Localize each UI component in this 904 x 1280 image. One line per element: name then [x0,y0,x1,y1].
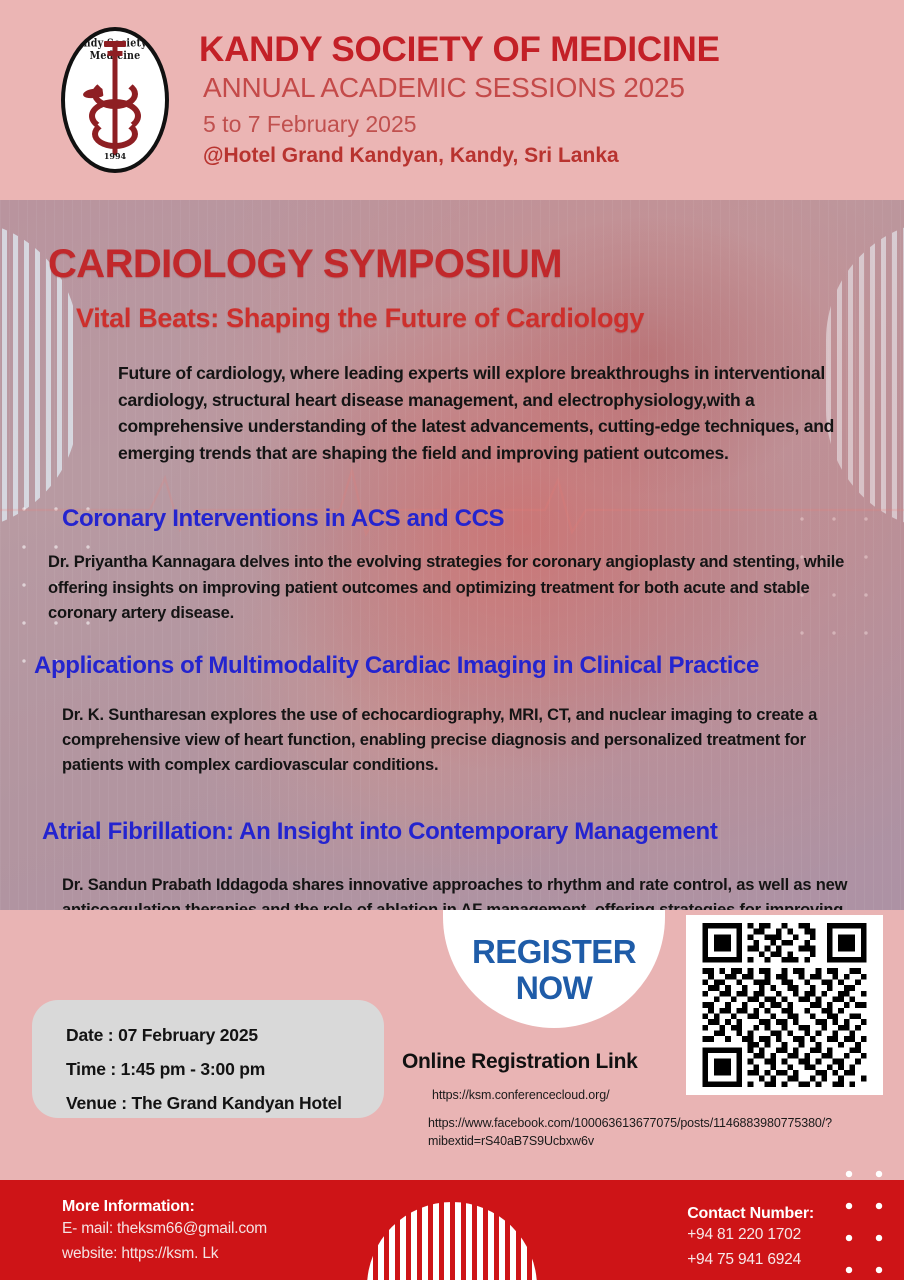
registration-qr-code[interactable] [686,915,883,1095]
session-item: Coronary Interventions in ACS and CCS Dr… [18,504,886,626]
session-item: Atrial Fibrillation: An Insight into Con… [18,817,886,910]
session-2-title: Applications of Multimodality Cardiac Im… [34,651,886,681]
striped-dome-decoration [367,1202,537,1280]
session-3-title: Atrial Fibrillation: An Insight into Con… [42,817,886,847]
more-information-block: More Information: E- mail: theksm66@gmai… [62,1198,267,1266]
qr-code-icon [694,923,875,1087]
register-now-button[interactable]: REGISTER NOW [443,910,665,1028]
contact-number-block: Contact Number: +94 81 220 1702 +94 75 9… [687,1205,814,1273]
symposium-title: CARDIOLOGY SYMPOSIUM [48,242,886,287]
event-time: Time : 1:45 pm - 3:00 pm [66,1052,384,1086]
header-text-block: KANDY SOCIETY OF MEDICINE ANNUAL ACADEMI… [199,28,904,171]
logo-wrap: Kandy Society of Medicine 1994 [55,25,175,175]
symposium-intro: Future of cardiology, where leading expe… [118,360,844,466]
session-3-body: Dr. Sandun Prabath Iddagoda shares innov… [62,873,864,910]
poster-root: Kandy Society of Medicine 1994 KANDY SOC… [0,0,904,1280]
ksm-logo-icon: Kandy Society of Medicine 1994 [61,27,169,173]
event-venue-header: @Hotel Grand Kandyan, Kandy, Sri Lanka [199,141,904,171]
session-item: Applications of Multimodality Cardiac Im… [18,651,886,779]
session-1-title: Coronary Interventions in ACS and CCS [62,504,886,534]
event-details-box: Date : 07 February 2025 Time : 1:45 pm -… [32,1000,384,1118]
event-dates: 5 to 7 February 2025 [199,107,904,142]
footer-phone-1[interactable]: +94 81 220 1702 [687,1223,814,1248]
contact-number-title: Contact Number: [687,1205,814,1223]
session-1-body: Dr. Priyantha Kannagara delves into the … [48,550,862,626]
register-label-line2: NOW [516,972,592,1004]
main-inner: CARDIOLOGY SYMPOSIUM Vital Beats: Shapin… [0,242,904,910]
session-2-body: Dr. K. Suntharesan explores the use of e… [62,703,870,779]
poster-footer: More Information: E- mail: theksm66@gmai… [0,1180,904,1280]
register-label-line1: REGISTER [472,935,636,968]
snake-coil-3-icon [92,119,138,149]
event-venue: Venue : The Grand Kandyan Hotel [66,1086,384,1120]
main-content-band: CARDIOLOGY SYMPOSIUM Vital Beats: Shapin… [0,200,904,910]
footer-email[interactable]: E- mail: theksm66@gmail.com [62,1216,267,1241]
footer-phone-2[interactable]: +94 75 941 6924 [687,1248,814,1273]
dot-grid-footer-decoration [834,1158,886,1278]
facebook-post-link[interactable]: https://www.facebook.com/100063613677075… [428,1114,773,1150]
event-subtitle: ANNUAL ACADEMIC SESSIONS 2025 [199,69,904,107]
symposium-tagline: Vital Beats: Shaping the Future of Cardi… [76,303,886,334]
event-date: Date : 07 February 2025 [66,1018,384,1052]
registration-url-link[interactable]: https://ksm.conferencecloud.org/ [432,1088,609,1102]
registration-link-heading: Online Registration Link [402,1050,702,1074]
more-information-title: More Information: [62,1198,267,1216]
logo-year-text: 1994 [65,151,165,161]
organization-title: KANDY SOCIETY OF MEDICINE [199,32,904,69]
poster-header: Kandy Society of Medicine 1994 KANDY SOC… [0,0,904,200]
footer-website[interactable]: website: https://ksm. Lk [62,1241,267,1266]
